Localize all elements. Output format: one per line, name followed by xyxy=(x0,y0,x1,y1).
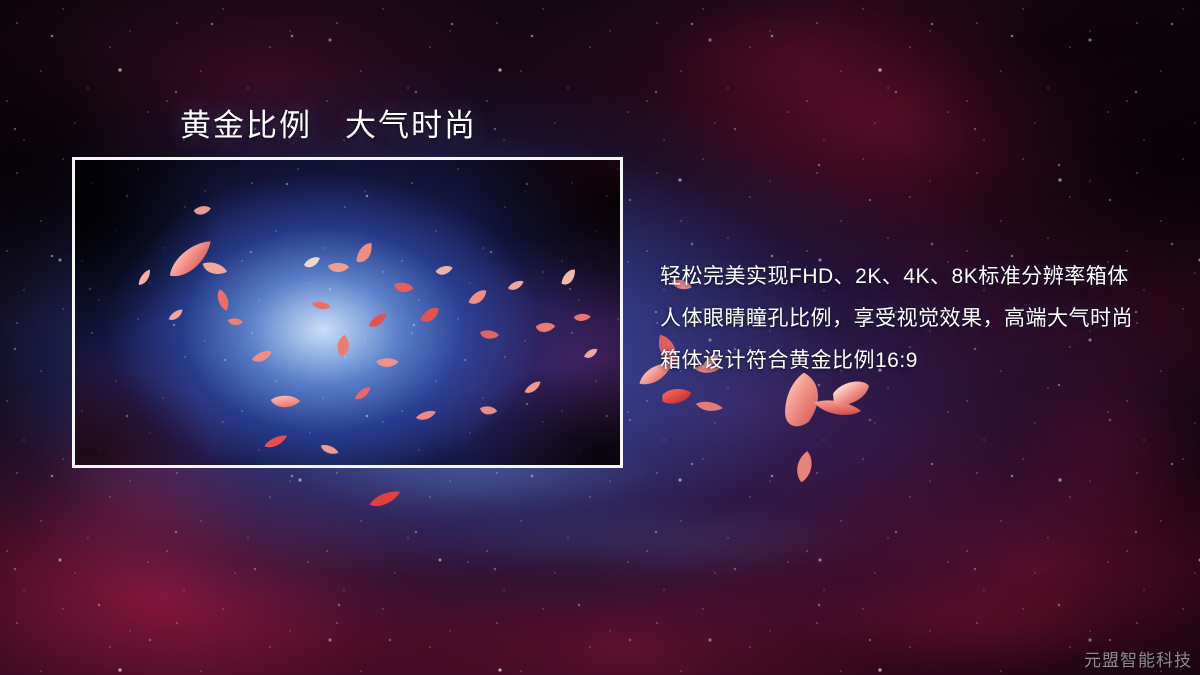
petal-shape xyxy=(693,395,726,418)
petal-shape xyxy=(367,487,404,512)
slide-canvas: 黄金比例 大气时尚 轻松完美实现FHD、2K、4K、8K标准分辨率箱体 人体眼睛… xyxy=(0,0,1200,675)
framed-image-inner xyxy=(75,160,620,465)
body-line-1: 轻松完美实现FHD、2K、4K、8K标准分辨率箱体 xyxy=(660,256,1180,298)
petal-shape xyxy=(809,386,865,430)
body-line-3: 箱体设计符合黄金比例16:9 xyxy=(660,340,1180,382)
framed-image xyxy=(72,157,623,468)
petal-shape xyxy=(789,448,820,486)
body-line-2: 人体眼睛瞳孔比例，享受视觉效果，高端大气时尚 xyxy=(660,298,1180,340)
watermark-label: 元盟智能科技 xyxy=(1084,646,1192,671)
petal-shape xyxy=(659,384,694,409)
framed-vignette xyxy=(75,160,620,465)
page-title: 黄金比例 大气时尚 xyxy=(180,100,477,145)
body-text-block: 轻松完美实现FHD、2K、4K、8K标准分辨率箱体 人体眼睛瞳孔比例，享受视觉效… xyxy=(660,256,1180,382)
